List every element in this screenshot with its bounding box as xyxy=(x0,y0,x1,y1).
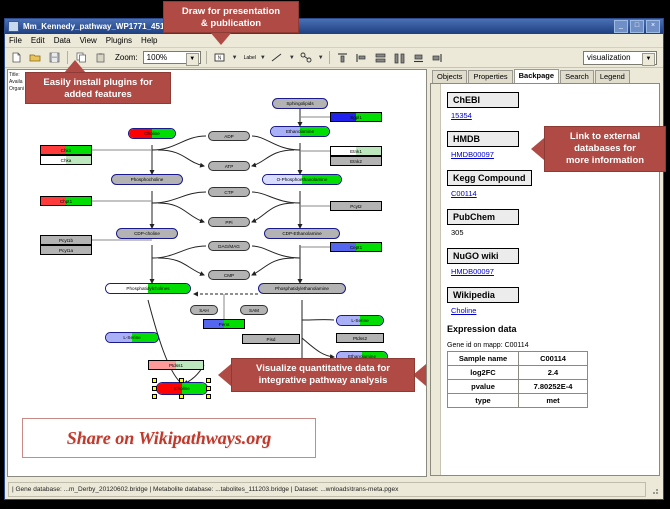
chevron-down-icon[interactable]: ▼ xyxy=(186,53,199,66)
node-label: Pcyt1b xyxy=(59,238,73,243)
node-l-serine-left[interactable]: L-Serine xyxy=(105,332,159,343)
align-left-icon[interactable] xyxy=(354,50,370,66)
menu-item-data[interactable]: Data xyxy=(54,36,71,45)
share-banner: Share on Wikipathways.org xyxy=(22,418,316,458)
node-label: CDP-choline xyxy=(134,231,160,236)
db-link-nugo-wiki[interactable]: HMDB00097 xyxy=(451,267,655,276)
save-icon[interactable] xyxy=(46,50,62,66)
chevron-down-icon[interactable]: ▼ xyxy=(318,55,324,61)
chevron-down-icon[interactable]: ▼ xyxy=(289,55,295,61)
cell-value: C00114 xyxy=(519,352,588,366)
node-label: DAG/MAG xyxy=(218,244,240,249)
node-sam[interactable]: SAM xyxy=(240,305,268,315)
node-label: Chkb xyxy=(61,148,72,153)
svg-text:N: N xyxy=(217,56,221,62)
callout-pointer-left xyxy=(531,138,544,160)
node-adp[interactable]: ADP xyxy=(208,131,250,141)
zoom-value: 100% xyxy=(147,53,167,62)
visualization-combobox[interactable]: visualization ▼ xyxy=(583,51,657,65)
node-pcyt2[interactable]: Pcyt2 xyxy=(330,201,382,211)
tab-search[interactable]: Search xyxy=(560,70,594,83)
cell-key: type xyxy=(448,394,519,408)
label-tool[interactable]: Label xyxy=(244,55,256,61)
resize-handle[interactable] xyxy=(152,378,157,383)
cell-key: pvalue xyxy=(448,380,519,394)
cell-value: 7.80252E-4 xyxy=(519,380,588,394)
callout-line: databases for xyxy=(551,143,659,155)
node-label: ATP xyxy=(225,164,234,169)
paste-icon[interactable] xyxy=(92,50,108,66)
cell-value: 2.4 xyxy=(519,366,588,380)
node-label: PPi xyxy=(225,220,232,225)
node-pemt[interactable]: Pemt xyxy=(203,319,245,329)
node-cmp[interactable]: CMP xyxy=(208,270,250,280)
node-o-phosphoethanolamine[interactable]: O-Phosphoethanolamine xyxy=(262,174,342,185)
zoom-label: Zoom: xyxy=(115,53,138,62)
node-label: CDP-Ethanolamine xyxy=(282,231,321,236)
node-label: Pemt xyxy=(219,322,230,327)
node-pcyt1a[interactable]: Pcyt1a xyxy=(40,245,92,255)
expression-data-heading: Expression data xyxy=(447,324,655,334)
callout-line: & publication xyxy=(170,18,292,30)
callout-pointer-down xyxy=(210,32,232,45)
node-etnk1[interactable]: Etnk1 xyxy=(330,146,382,156)
db-link-wikipedia[interactable]: Choline xyxy=(451,306,655,315)
node-atp[interactable]: ATP xyxy=(208,161,250,171)
cell-key: Sample name xyxy=(448,352,519,366)
line-icon[interactable] xyxy=(269,50,285,66)
resize-handle[interactable] xyxy=(206,378,211,383)
node-label: Sgpl1 xyxy=(350,115,362,120)
node-label: Pisd xyxy=(267,337,276,342)
toolbar-separator xyxy=(206,51,207,64)
callout-visualize: Visualize quantitative data for integrat… xyxy=(231,358,415,392)
chevron-down-icon[interactable]: ▼ xyxy=(642,53,655,66)
menu-item-help[interactable]: Help xyxy=(141,36,157,45)
screenshot-root: Mm_Kennedy_pathway_WP1771_45176.gpml _ □… xyxy=(0,0,670,509)
node-label: Ptdss1 xyxy=(169,363,183,368)
align-right-icon[interactable] xyxy=(430,50,446,66)
callout-line: added features xyxy=(32,89,164,101)
title-bar: Mm_Kennedy_pathway_WP1771_45176.gpml _ □… xyxy=(5,19,663,34)
visualization-value: visualization xyxy=(587,53,631,62)
node-label: Chka xyxy=(61,158,72,163)
align-top-icon[interactable] xyxy=(335,50,351,66)
table-row: pvalue 7.80252E-4 xyxy=(448,380,588,394)
chevron-down-icon[interactable]: ▼ xyxy=(260,55,266,61)
node-label: Choline xyxy=(174,386,190,391)
node-ctp[interactable]: CTP xyxy=(208,187,250,197)
datanode-icon[interactable]: N xyxy=(212,50,228,66)
node-chkb[interactable]: Chkb xyxy=(40,145,92,155)
align-bottom-icon[interactable] xyxy=(411,50,427,66)
node-etnk2[interactable]: Etnk2 xyxy=(330,156,382,166)
db-link-kegg-compound[interactable]: C00114 xyxy=(451,189,655,198)
node-label: O-Phosphoethanolamine xyxy=(277,177,328,182)
node-cept1[interactable]: Cept1 xyxy=(330,242,382,252)
gene-id-label: Gene id on mapp: C00114 xyxy=(447,342,655,349)
distribute-vertical-icon[interactable] xyxy=(373,50,389,66)
tool-bar: Zoom: 100% ▼ N ▼ Label ▼ ▼ ▼ xyxy=(5,48,663,68)
toolbar-separator xyxy=(329,51,330,64)
node-label: SAH xyxy=(199,308,208,313)
callout-line: Visualize quantitative data for xyxy=(238,363,408,375)
node-label: CTP xyxy=(224,190,233,195)
node-phosphatidylcholines[interactable]: Phosphatidylcholines xyxy=(105,283,191,294)
node-sah[interactable]: SAH xyxy=(190,305,218,315)
status-bar: | Gene database: ...m_Derby_20120602.bri… xyxy=(5,479,663,499)
node-label: L-Serine xyxy=(351,318,368,323)
db-header-hmdb: HMDB xyxy=(447,131,519,147)
node-phosphocholine[interactable]: Phosphocholine xyxy=(111,174,183,185)
new-file-icon[interactable] xyxy=(8,50,24,66)
menu-item-plugins[interactable]: Plugins xyxy=(106,36,132,45)
node-ptdss1[interactable]: Ptdss1 xyxy=(148,360,204,370)
db-header-wikipedia: Wikipedia xyxy=(447,287,519,303)
table-row: Sample name C00114 xyxy=(448,352,588,366)
node-label: Ptdss2 xyxy=(353,336,367,341)
node-pisd[interactable]: Pisd xyxy=(242,334,300,344)
callout-line: more information xyxy=(551,155,659,167)
node-label: Ethanolamine xyxy=(286,129,314,134)
close-button[interactable]: × xyxy=(646,20,660,33)
callout-line: Draw for presentation xyxy=(170,6,292,18)
node-l-serine-right[interactable]: L-Serine xyxy=(336,315,384,326)
selected-node-choline[interactable]: Choline xyxy=(152,378,212,399)
cell-key: log2FC xyxy=(448,366,519,380)
panel-scrollbar[interactable] xyxy=(431,84,441,475)
share-text: Share on Wikipathways.org xyxy=(67,428,272,449)
chevron-down-icon[interactable]: ▼ xyxy=(232,55,238,61)
resize-handle[interactable] xyxy=(152,386,157,391)
node-choline-top[interactable]: Choline xyxy=(128,128,176,139)
callout-draw: Draw for presentation & publication xyxy=(163,1,299,33)
tab-backpage[interactable]: Backpage xyxy=(514,69,559,83)
node-label: Phosphatidylcholines xyxy=(126,286,169,291)
menu-item-view[interactable]: View xyxy=(80,36,97,45)
open-folder-icon[interactable] xyxy=(27,50,43,66)
node-label: Phosphocholine xyxy=(131,177,164,182)
node-label: Chpt1 xyxy=(60,199,72,204)
app-icon xyxy=(8,21,19,32)
node-label: L-Serine xyxy=(123,335,140,340)
tab-objects[interactable]: Objects xyxy=(432,70,467,83)
node-label: Pcyt2 xyxy=(350,204,362,209)
node-label: Cept1 xyxy=(350,245,362,250)
shape-icon[interactable] xyxy=(298,50,314,66)
node-label: ADP xyxy=(224,134,233,139)
db-header-chebi: ChEBI xyxy=(447,92,519,108)
node-ethanolamine[interactable]: Ethanolamine xyxy=(270,126,330,137)
menu-item-edit[interactable]: Edit xyxy=(31,36,45,45)
node-chka[interactable]: Chka xyxy=(40,155,92,165)
table-row: type met xyxy=(448,394,588,408)
node-phosphatidylethanolamine[interactable]: Phosphatidylethanolamine xyxy=(258,283,346,294)
callout-links: Link to external databases for more info… xyxy=(544,126,666,172)
node-ptdss2[interactable]: Ptdss2 xyxy=(336,333,384,343)
node-label: Etnk2 xyxy=(350,159,362,164)
callout-pointer-left xyxy=(218,364,231,386)
callout-line: Link to external xyxy=(551,131,659,143)
node-pcyt1b[interactable]: Pcyt1b xyxy=(40,235,92,245)
tab-legend[interactable]: Legend xyxy=(595,70,630,83)
pathway-canvas[interactable]: Title: Availa Organi xyxy=(7,69,427,477)
resize-handle[interactable] xyxy=(152,394,157,399)
node-label: CMP xyxy=(224,273,234,278)
node-cdp-choline[interactable]: CDP-choline xyxy=(116,228,178,239)
db-header-nugo-wiki: NuGO wiki xyxy=(447,248,519,264)
node-label: Phosphatidylethanolamine xyxy=(275,286,329,291)
node-cdp-ethanolamine[interactable]: CDP-Ethanolamine xyxy=(264,228,340,239)
node-label: Sphingolipids xyxy=(286,101,313,106)
menu-item-file[interactable]: File xyxy=(9,36,22,45)
window-buttons: _ □ × xyxy=(614,20,660,33)
minimize-button[interactable]: _ xyxy=(614,20,628,33)
resize-handle[interactable] xyxy=(179,378,184,383)
resize-handle[interactable] xyxy=(179,394,184,399)
node-sgpl1[interactable]: Sgpl1 xyxy=(330,112,382,122)
maximize-button[interactable]: □ xyxy=(630,20,644,33)
zoom-combobox[interactable]: 100% ▼ xyxy=(143,51,201,64)
node-ppi[interactable]: PPi xyxy=(208,217,250,227)
node-label: Pcyt1a xyxy=(59,248,73,253)
db-link-chebi[interactable]: 15354 xyxy=(451,111,655,120)
db-value-pubchem: 305 xyxy=(451,228,655,237)
callout-plugins: Easily install plugins for added feature… xyxy=(25,72,171,104)
node-label: SAM xyxy=(249,308,259,313)
node-chpt1[interactable]: Chpt1 xyxy=(40,196,92,206)
panel-tabs: Objects Properties Backpage Search Legen… xyxy=(429,69,661,83)
resize-grip-icon[interactable] xyxy=(648,483,660,495)
callout-line: Easily install plugins for xyxy=(32,77,164,89)
tab-properties[interactable]: Properties xyxy=(468,70,512,83)
distribute-horizontal-icon[interactable] xyxy=(392,50,408,66)
db-header-kegg-compound: Kegg Compound xyxy=(447,170,532,186)
node-sphingolipids[interactable]: Sphingolipids xyxy=(272,98,328,109)
cell-value: met xyxy=(519,394,588,408)
node-label: Choline xyxy=(144,131,160,136)
db-header-pubchem: PubChem xyxy=(447,209,519,225)
resize-handle[interactable] xyxy=(206,394,211,399)
menu-bar: File Edit Data View Plugins Help xyxy=(5,34,663,48)
resize-handle[interactable] xyxy=(206,386,211,391)
node-dag-mag[interactable]: DAG/MAG xyxy=(208,241,250,251)
expression-table: Sample name C00114 log2FC 2.4 pvalue 7.8… xyxy=(447,351,588,408)
node-label: Etnk1 xyxy=(350,149,362,154)
callout-line: integrative pathway analysis xyxy=(238,375,408,387)
status-text: | Gene database: ...m_Derby_20120602.bri… xyxy=(8,482,646,497)
table-row: log2FC 2.4 xyxy=(448,366,588,380)
